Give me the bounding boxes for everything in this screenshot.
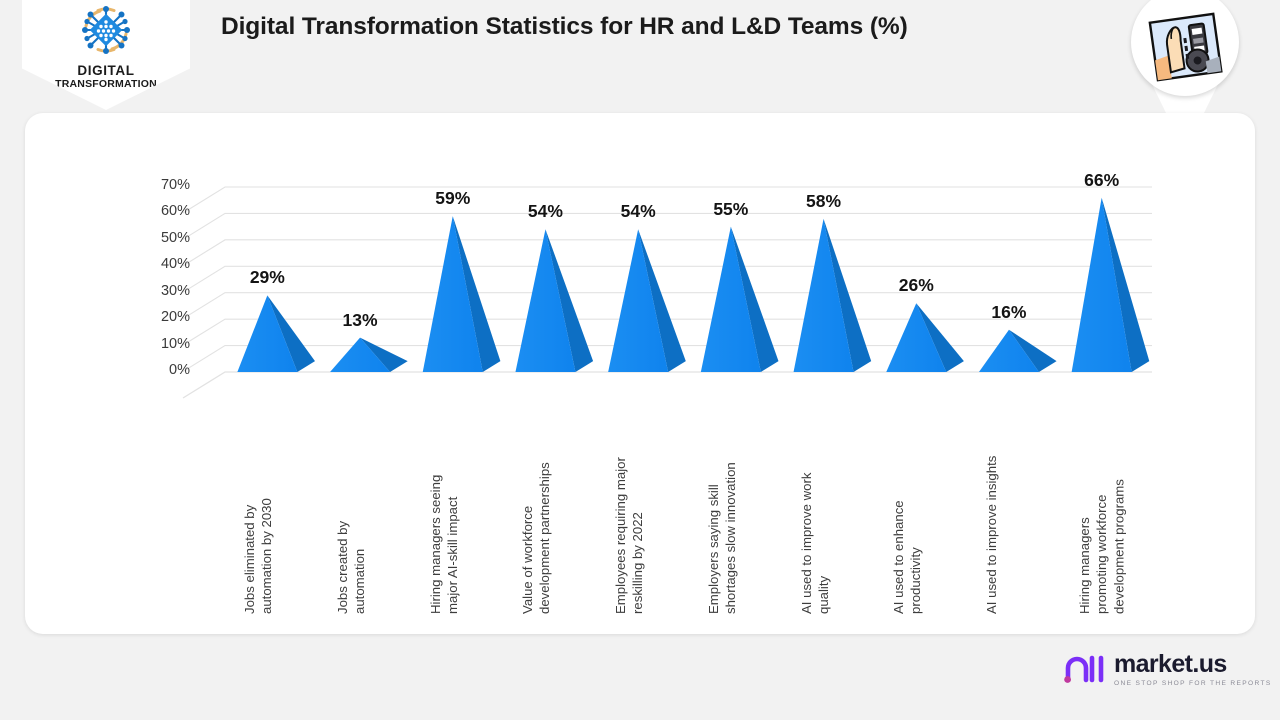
logo-label-line2: TRANSFORMATION [55,78,157,90]
market-us-logo: market.us ONE STOP SHOP FOR THE REPORTS [1063,650,1272,689]
page-title: Digital Transformation Statistics for HR… [221,10,921,44]
slide-root: DIGITAL TRANSFORMATION Digital Transform… [0,0,1280,720]
brand-tld: .us [1192,650,1226,678]
brand-name: market [1114,650,1192,678]
human-robot-handshake-icon [1148,12,1224,93]
logo-label-line1: DIGITAL [77,63,134,78]
market-us-tagline: ONE STOP SHOP FOR THE REPORTS [1114,680,1272,687]
chart-card [25,113,1255,634]
market-us-wordmark: market.us [1114,652,1272,677]
market-us-logo-icon [1063,650,1107,689]
digital-transformation-chip-icon [78,4,134,61]
